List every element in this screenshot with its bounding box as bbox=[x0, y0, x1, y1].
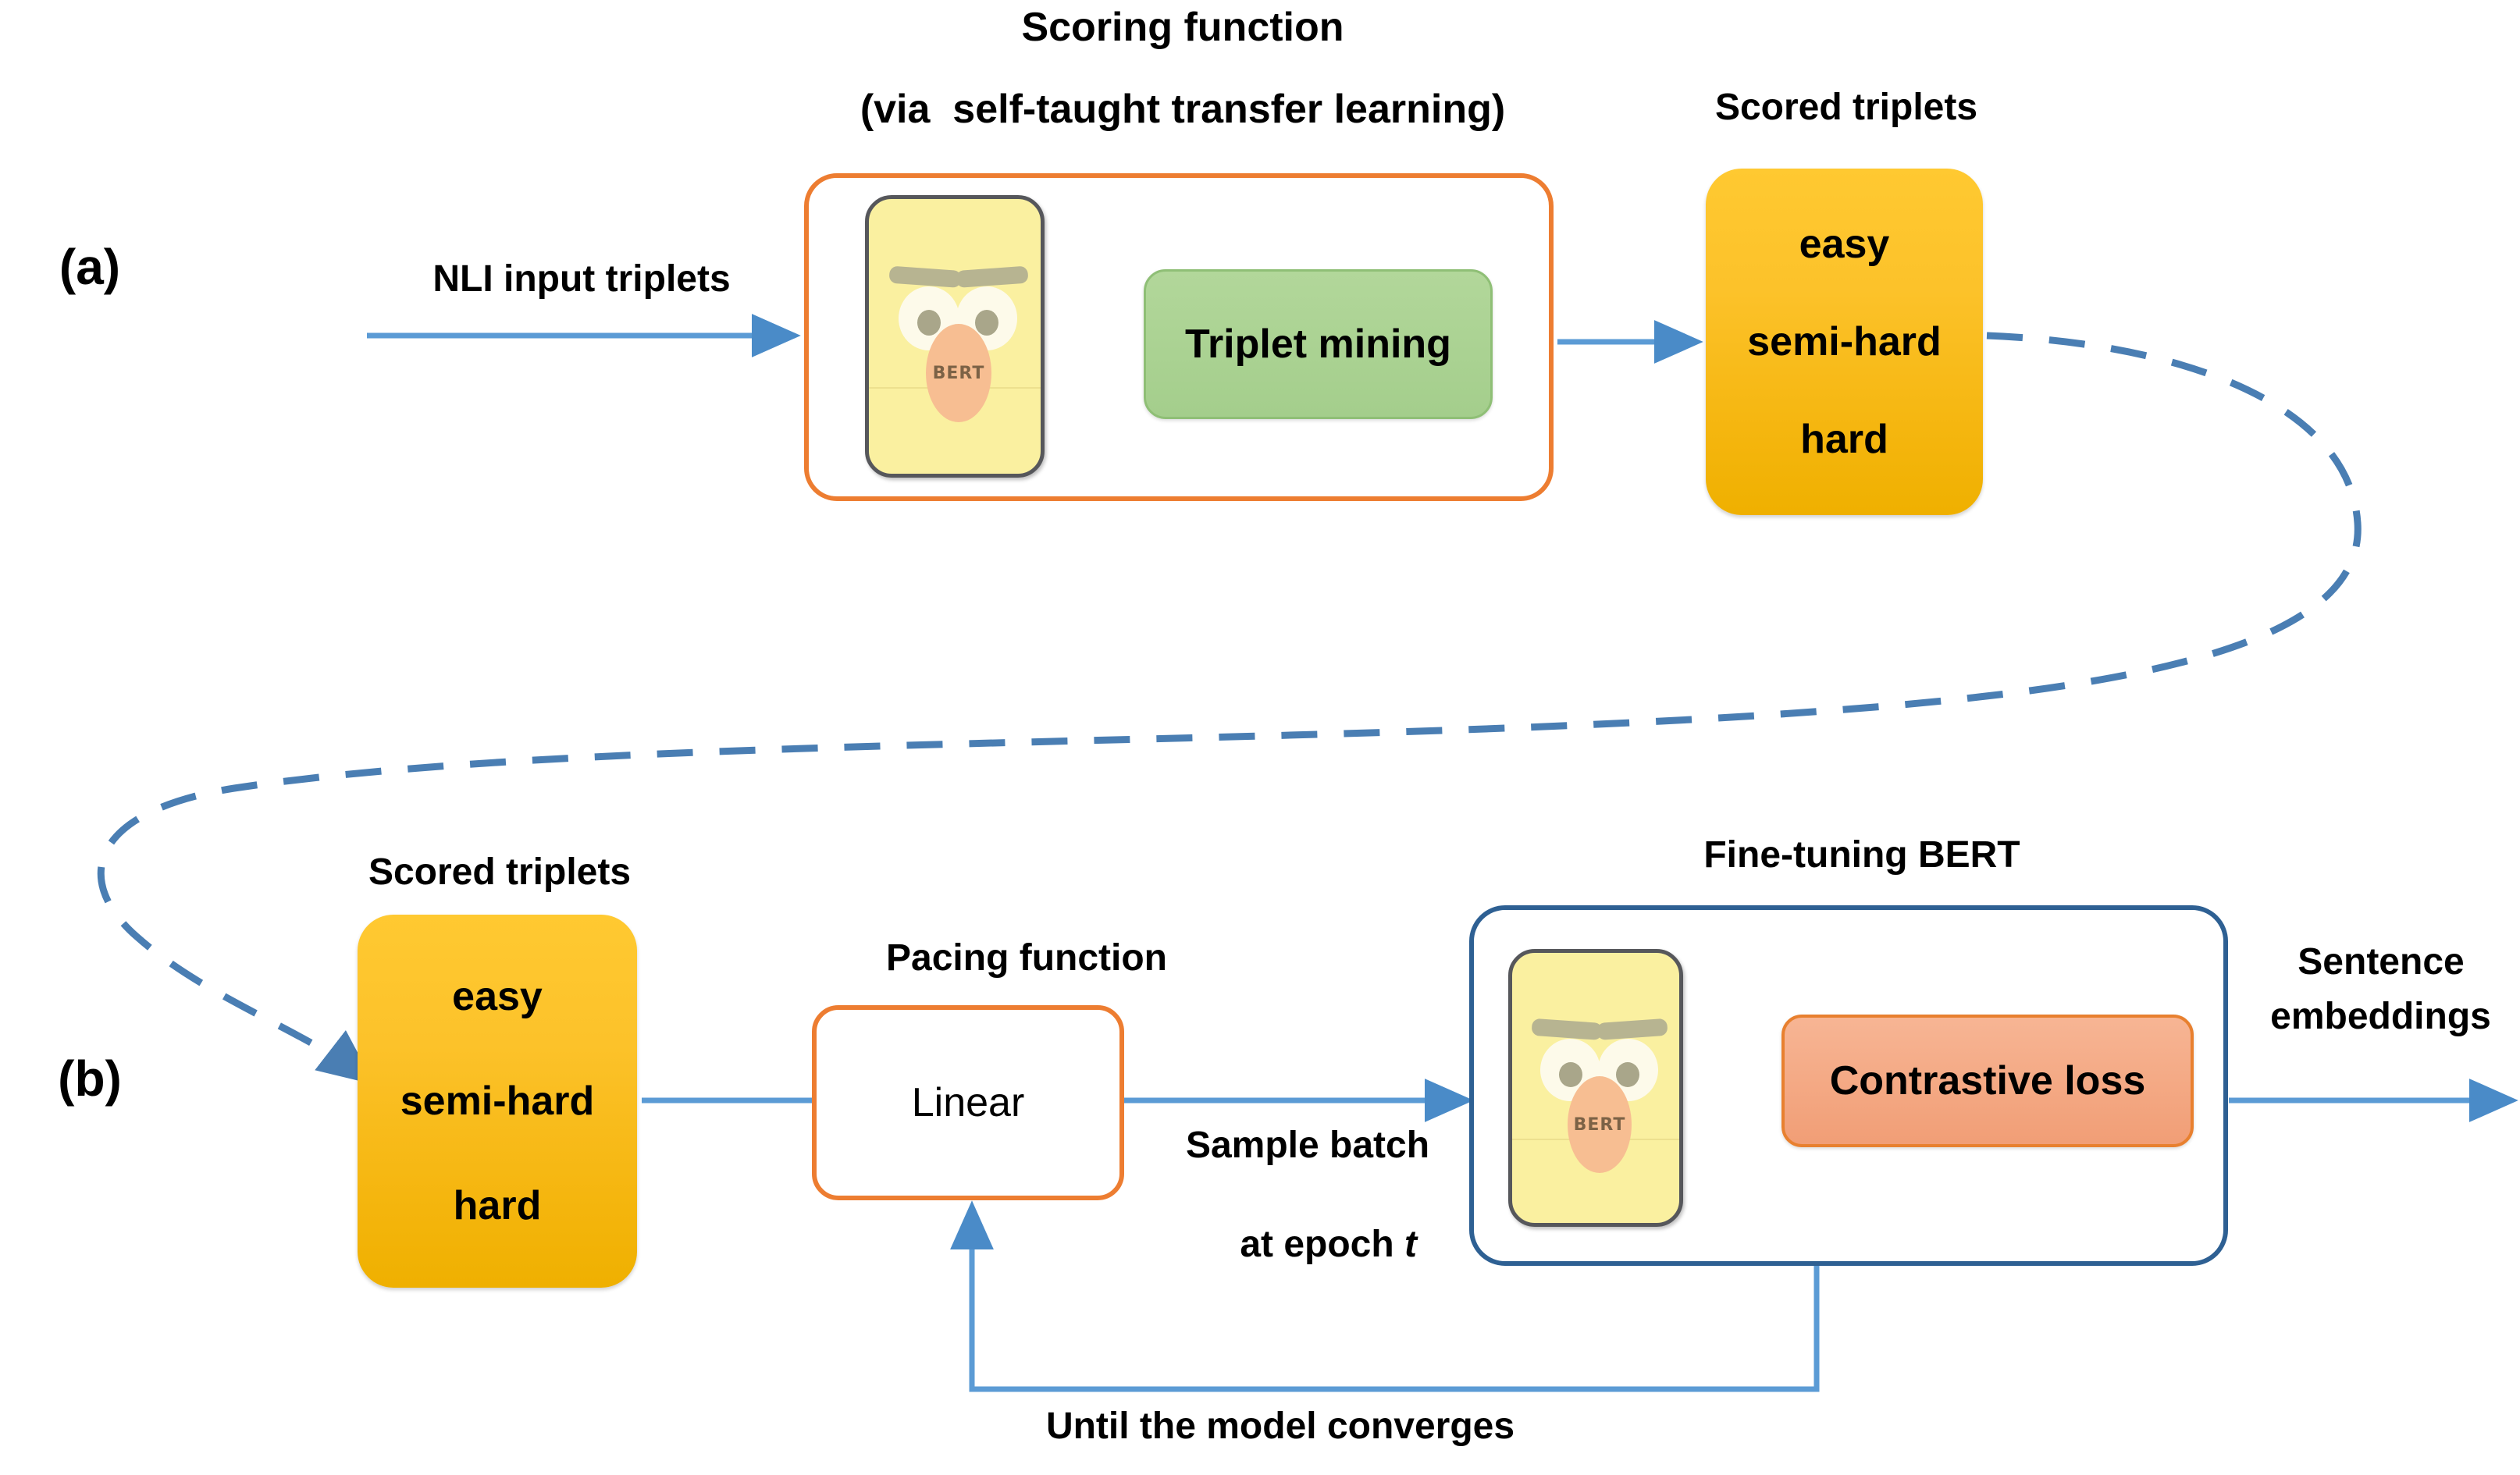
pacing-function-box[interactable]: Linear bbox=[812, 1005, 1124, 1200]
scored-row-easy-a: easy bbox=[1799, 221, 1890, 268]
pacing-function-value: Linear bbox=[912, 1079, 1025, 1126]
feedback-loop-label: Until the model converges bbox=[898, 1405, 1663, 1449]
scoring-function-title-line1: Scoring function bbox=[781, 4, 1585, 52]
sentence-embeddings-label-line2: embeddings bbox=[2234, 995, 2520, 1040]
bert-avatar-icon: BERT bbox=[1508, 949, 1683, 1227]
scored-triplets-box-b[interactable]: easy semi-hard hard bbox=[358, 915, 637, 1288]
scored-triplets-box-a[interactable]: easy semi-hard hard bbox=[1706, 169, 1983, 515]
sentence-embeddings-label-line1: Sentence bbox=[2248, 940, 2514, 985]
contrastive-loss-label: Contrastive loss bbox=[1830, 1057, 2146, 1104]
bert-nose-label: BERT bbox=[1574, 1115, 1626, 1135]
sample-batch-label-line2: at epoch t bbox=[1144, 1178, 1472, 1311]
panel-letter-b: (b) bbox=[16, 1050, 164, 1107]
scored-row-hard-b: hard bbox=[454, 1182, 542, 1229]
scored-triplets-title-a: Scored triplets bbox=[1647, 86, 2045, 130]
nli-input-label: NLI input triplets bbox=[347, 258, 816, 302]
diagram-canvas: (a) NLI input triplets Scoring function … bbox=[0, 0, 2520, 1475]
sample-batch-epoch-text: at epoch bbox=[1240, 1224, 1404, 1265]
contrastive-loss-box[interactable]: Contrastive loss bbox=[1781, 1015, 2194, 1147]
scored-row-semihard-a: semi-hard bbox=[1747, 318, 1942, 365]
scored-row-semihard-b: semi-hard bbox=[400, 1078, 595, 1125]
scored-triplets-title-b: Scored triplets bbox=[301, 851, 699, 895]
sample-batch-epoch-variable: t bbox=[1404, 1224, 1417, 1265]
finetune-bert-title: Fine-tuning BERT bbox=[1542, 833, 2182, 878]
scored-row-hard-a: hard bbox=[1800, 416, 1888, 463]
bert-avatar-icon: BERT bbox=[865, 195, 1045, 478]
pacing-function-title: Pacing function bbox=[800, 937, 1253, 981]
scored-row-easy-b: easy bbox=[452, 973, 543, 1020]
triplet-mining-label: Triplet mining bbox=[1185, 321, 1451, 368]
bert-nose-label: BERT bbox=[933, 364, 985, 383]
scoring-function-title-line2: (via self-taught transfer learning) bbox=[749, 86, 1616, 133]
panel-letter-a: (a) bbox=[16, 238, 164, 296]
sample-batch-label-line1: Sample batch bbox=[1144, 1124, 1472, 1168]
triplet-mining-box[interactable]: Triplet mining bbox=[1144, 269, 1493, 419]
